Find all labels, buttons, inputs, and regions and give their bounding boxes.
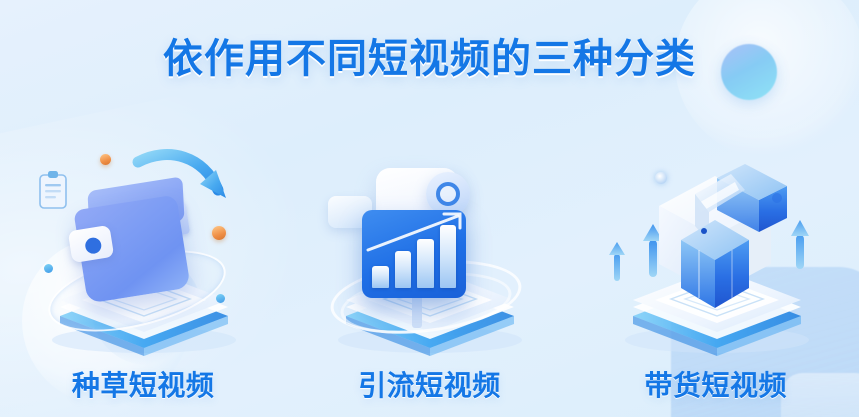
category-item-3[interactable]: 带货短视频 — [596, 104, 836, 404]
wallet-illustration — [28, 144, 258, 356]
cube-illustration — [601, 144, 831, 356]
category-row: 种草短视频 — [0, 104, 859, 404]
up-arrow-left — [609, 242, 625, 282]
cube-center-dot — [701, 228, 707, 234]
bar-chart-panel — [362, 210, 466, 298]
poster-canvas: 依作用不同短视频的三种分类 — [0, 0, 859, 417]
category-label-2: 引流短视频 — [358, 364, 501, 404]
page-title: 依作用不同短视频的三种分类 — [0, 26, 859, 84]
trend-line-icon — [362, 210, 466, 298]
category-item-1[interactable]: 种草短视频 — [23, 104, 263, 404]
isometric-cube — [635, 160, 795, 316]
category-item-2[interactable]: 引流短视频 — [309, 104, 549, 404]
wallet-clasp — [68, 225, 114, 263]
chart-illustration — [314, 144, 544, 356]
coin-small — [100, 154, 111, 165]
category-label-3: 带货短视频 — [645, 364, 788, 404]
category-label-1: 种草短视频 — [72, 364, 215, 404]
clipboard-icon — [38, 170, 68, 210]
